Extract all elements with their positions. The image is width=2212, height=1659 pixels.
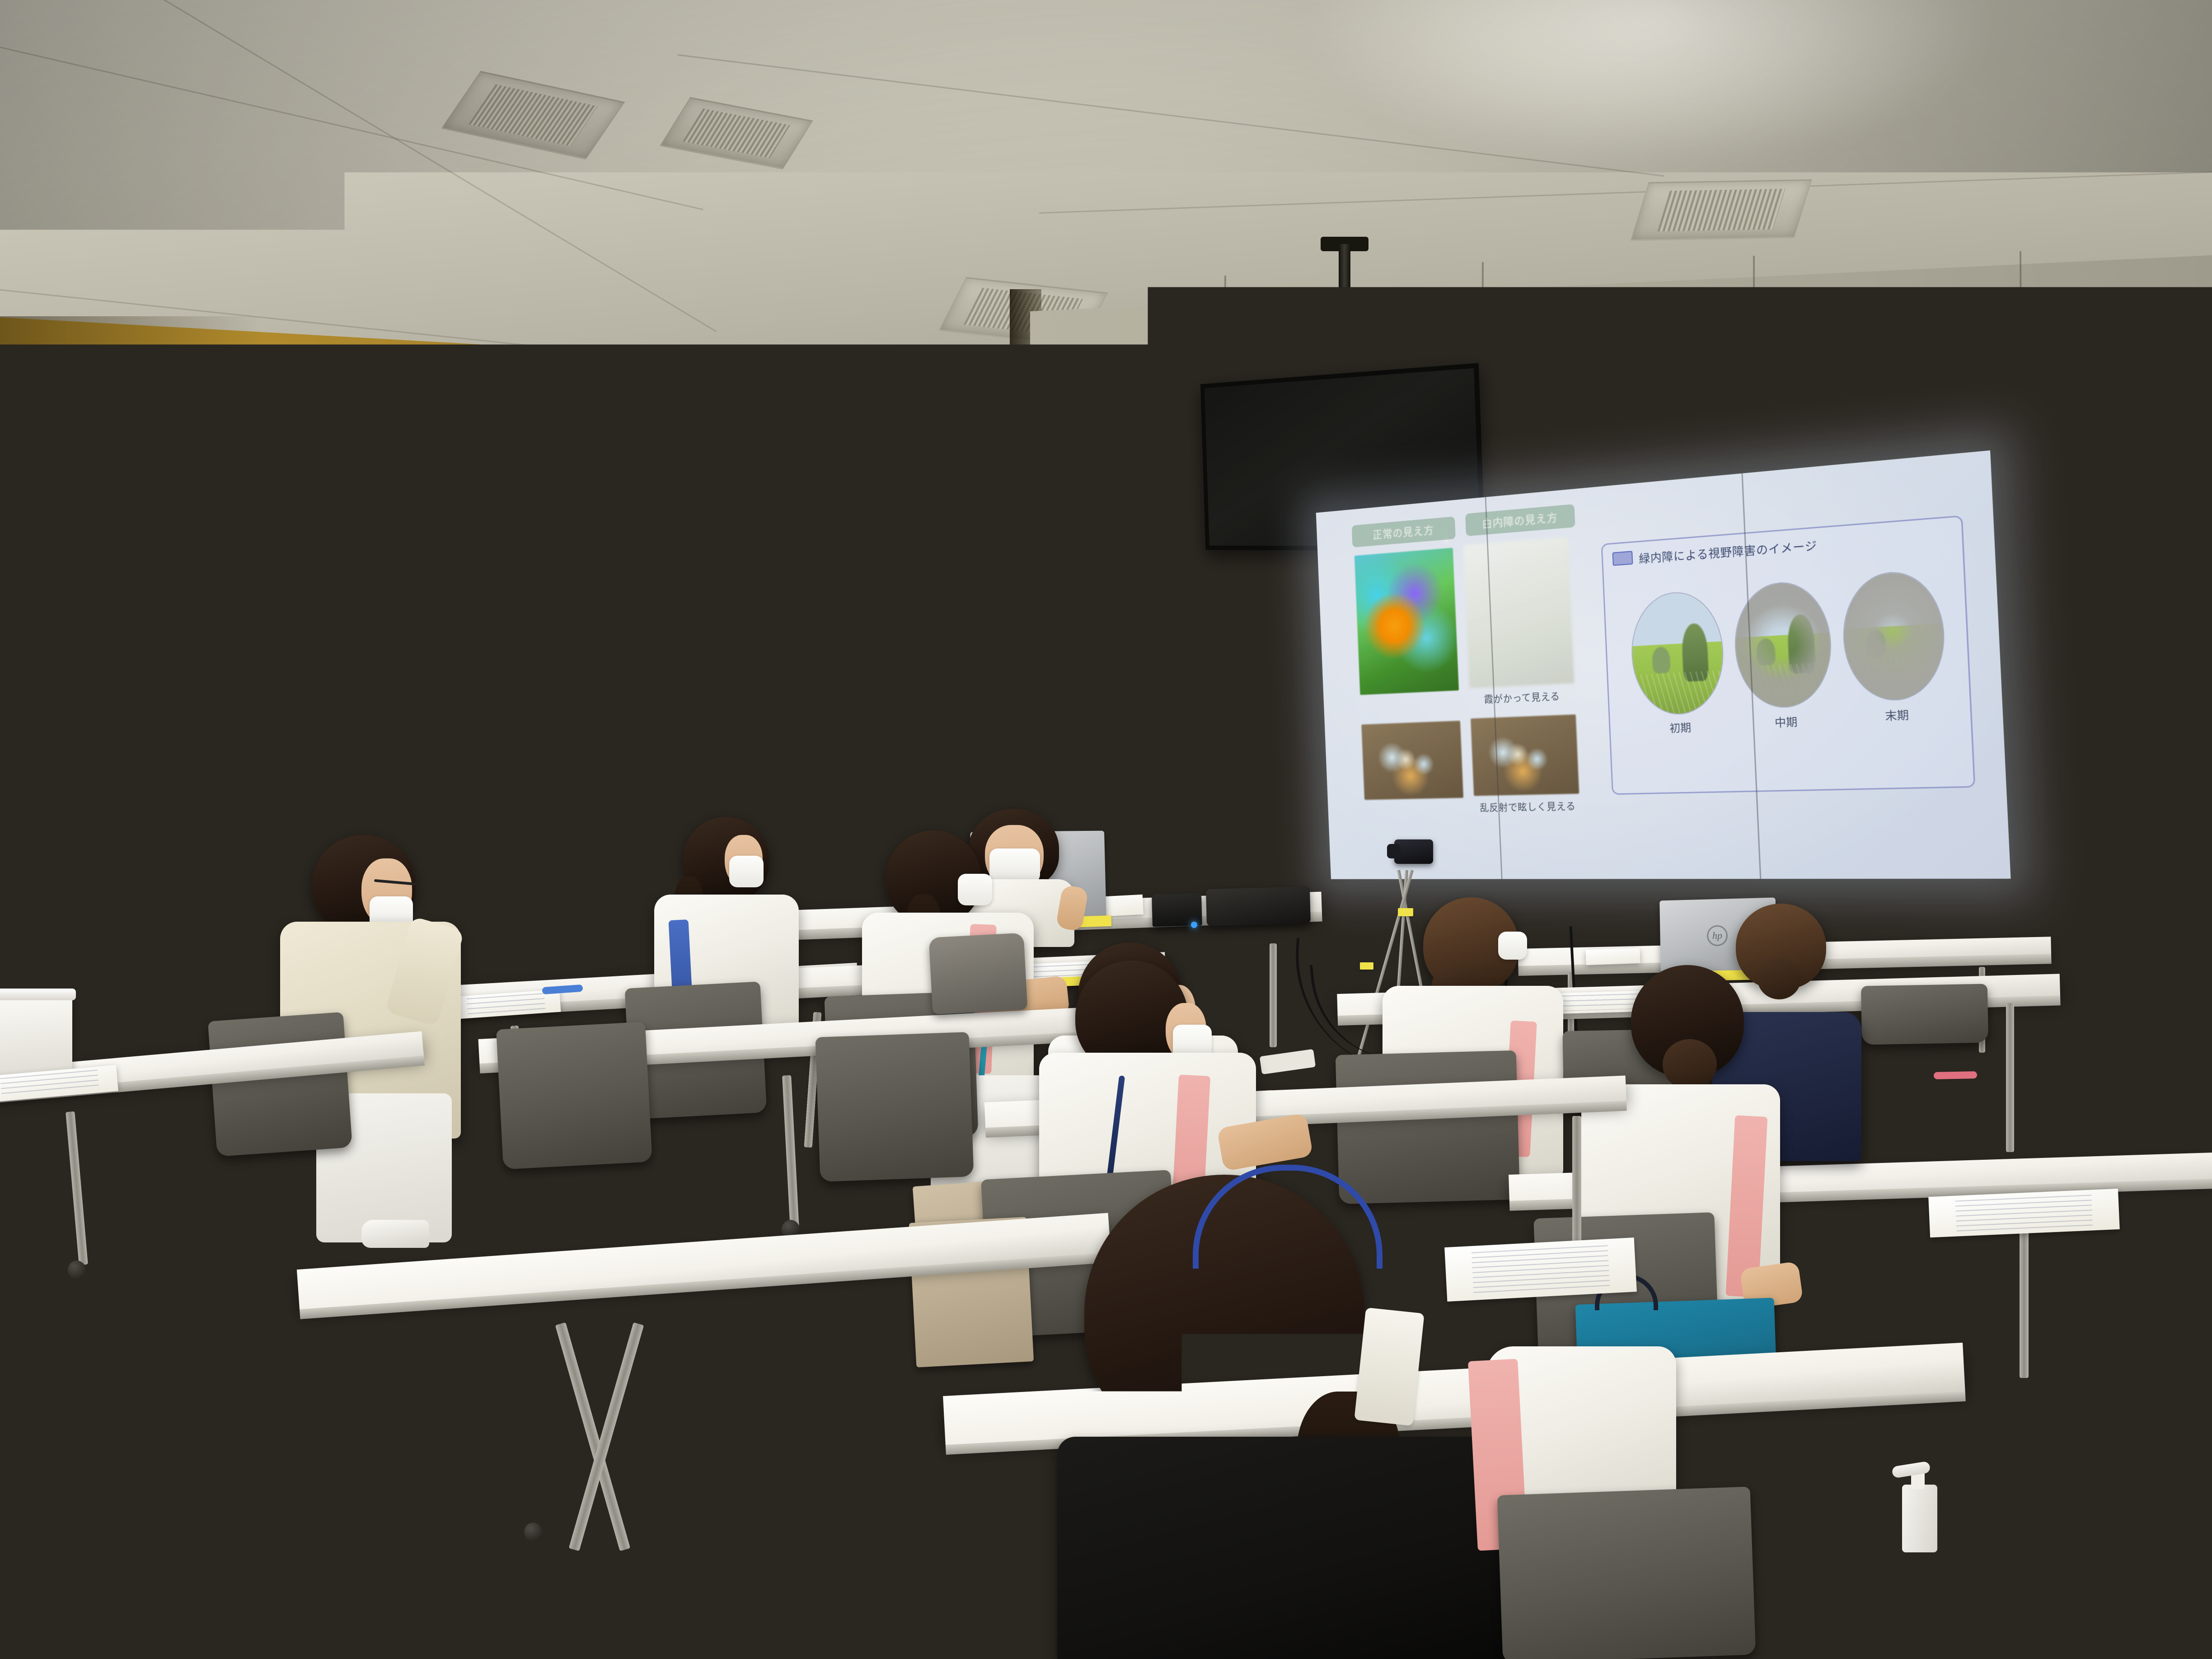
slide-image-normal-flower bbox=[1354, 548, 1459, 695]
table-leg bbox=[2006, 1003, 2014, 1152]
chair[interactable] bbox=[496, 1022, 652, 1170]
slide-tag-normal-vision: 正常の見え方 bbox=[1352, 516, 1456, 548]
student-hair-bun bbox=[1663, 1039, 1717, 1090]
chair[interactable] bbox=[1497, 1486, 1756, 1659]
table-papers bbox=[1928, 1189, 2120, 1237]
foreground-face-mask bbox=[1354, 1308, 1424, 1426]
wall-outlet[interactable] bbox=[988, 751, 1008, 780]
hp-logo-icon: hp bbox=[1707, 925, 1728, 947]
ceiling-light-glow bbox=[1310, 0, 1988, 163]
table-caster bbox=[524, 1523, 542, 1542]
video-camera[interactable] bbox=[1394, 839, 1433, 864]
eye-stage-label-late: 末期 bbox=[1846, 704, 1948, 725]
grey-backpack[interactable] bbox=[929, 933, 1028, 1015]
foreground-torso bbox=[1057, 1437, 1523, 1659]
eye-field-early bbox=[1629, 589, 1726, 716]
white-bucket[interactable] bbox=[0, 994, 72, 1075]
slide-caption-glare: 乱反射で眩しく見える bbox=[1457, 798, 1600, 815]
projected-slide: 正常の見え方 白内障の見え方 霞がかって見える 乱反射で眩しく見える 緑内障によ… bbox=[1316, 450, 2011, 879]
speaker-power-led-icon bbox=[1191, 922, 1197, 928]
student-face-mask bbox=[729, 856, 764, 887]
whiteboard-marker[interactable] bbox=[518, 900, 550, 908]
chair[interactable] bbox=[1861, 984, 1988, 1045]
door-label: 引戸 開閉注意 bbox=[853, 690, 908, 702]
slide-image-glare-normal bbox=[1361, 721, 1463, 800]
slide-panel-title: 緑内障による視野障害のイメージ bbox=[1639, 537, 1818, 567]
table-leg bbox=[1270, 943, 1277, 1047]
classroom-scene: 会話 禁止 感染予防のため、マスク着用の上、会話はお控えください 引戸 開閉注意… bbox=[0, 0, 2212, 1659]
chair[interactable] bbox=[208, 1012, 352, 1157]
attendee-shoe bbox=[361, 1220, 429, 1248]
student-face-mask bbox=[958, 874, 992, 905]
back-table-papers bbox=[1585, 948, 1640, 965]
foreground-papers bbox=[1444, 1237, 1637, 1302]
slide-tag-cataract-vision: 白内障の見え方 bbox=[1465, 504, 1575, 536]
ceiling-vent bbox=[1631, 179, 1812, 241]
cable-marker-tape bbox=[1398, 908, 1413, 916]
student-hair-bun bbox=[1757, 958, 1801, 999]
floor-bag[interactable] bbox=[251, 1561, 508, 1659]
panel-badge-icon bbox=[1612, 551, 1633, 566]
eye-field-late bbox=[1841, 569, 1947, 703]
projector bbox=[1206, 886, 1311, 926]
eye-stage-label-early: 初期 bbox=[1635, 717, 1727, 737]
presenter-face-mask bbox=[989, 848, 1040, 883]
chair[interactable] bbox=[0, 1237, 171, 1419]
sign-line-2: 禁止 bbox=[538, 618, 607, 651]
slide-image-glare-cataract bbox=[1471, 714, 1579, 796]
chair[interactable] bbox=[1336, 1050, 1520, 1204]
chair[interactable] bbox=[815, 1032, 974, 1182]
table-caster bbox=[669, 1514, 687, 1532]
slide-caption-hazy: 霞がかって見える bbox=[1470, 688, 1575, 706]
tv-mount-pole bbox=[1339, 244, 1350, 393]
slide-image-cataract-flower bbox=[1463, 537, 1575, 688]
pink-marker[interactable] bbox=[1934, 1071, 1977, 1079]
student-face-mask bbox=[1498, 932, 1527, 960]
hand-sanitizer-bottle[interactable] bbox=[1902, 1464, 1956, 1559]
slide-glaucoma-panel: 緑内障による視野障害のイメージ 初期 中期 末期 bbox=[1601, 515, 1976, 795]
whiteboard-marker[interactable] bbox=[473, 902, 505, 909]
